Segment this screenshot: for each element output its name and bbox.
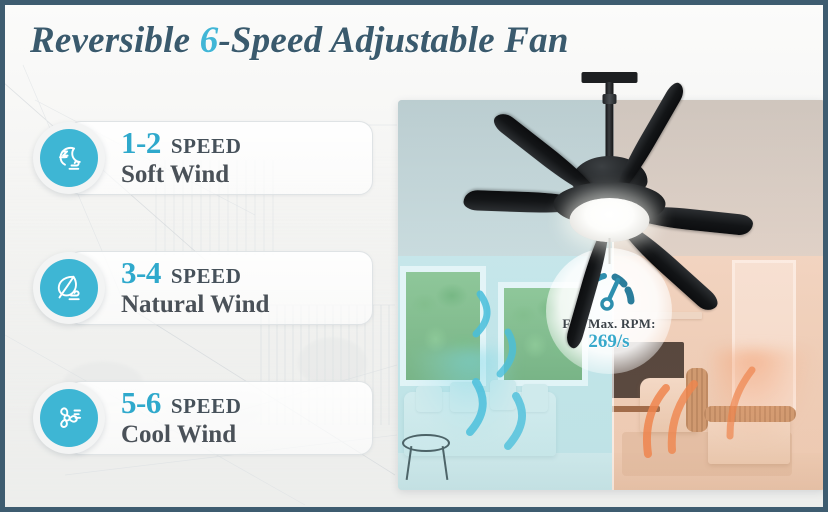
title-part-2: -Speed Adjustable Fan: [218, 20, 568, 61]
speed-word: SPEED: [171, 396, 242, 417]
speedometer-gauge-icon: [578, 271, 640, 313]
rattan-sofa-frame: [704, 406, 796, 422]
fan-blades-wind-icon: [40, 389, 98, 447]
sofa-cushion: [416, 386, 442, 412]
sofa-cushion: [522, 384, 548, 412]
page-title: Reversible 6-Speed Adjustable Fan: [30, 19, 569, 62]
window-greenery: [406, 272, 480, 380]
speed-range: 1-2: [121, 127, 161, 158]
feature-card-list: 1-2 SPEED Soft Wind: [33, 115, 373, 505]
feature-icon-ring: [33, 382, 105, 454]
wind-mode-label: Soft Wind: [121, 162, 242, 188]
rpm-badge: Fan Max. RPM: 269/s: [546, 248, 672, 374]
feature-icon-ring: [33, 252, 105, 324]
rattan-chair-back: [686, 368, 708, 432]
speed-range: 5-6: [121, 387, 161, 418]
wind-mode-label: Natural Wind: [121, 292, 269, 318]
wind-mode-label: Cool Wind: [121, 422, 242, 448]
sofa-cushion: [450, 382, 478, 412]
rpm-label: Fan Max. RPM:: [562, 316, 655, 332]
title-part-1: Reversible: [30, 20, 200, 61]
product-photo-panel: Fan Max. RPM: 269/s: [398, 100, 825, 490]
coffee-table: [612, 406, 660, 412]
speed-range: 3-4: [121, 257, 161, 288]
title-highlight-number: 6: [200, 20, 219, 61]
feature-card-text: 1-2 SPEED Soft Wind: [121, 127, 242, 188]
feature-card-text: 3-4 SPEED Natural Wind: [121, 257, 269, 318]
leaf-wind-icon: [40, 259, 98, 317]
window-frame-right: [732, 260, 796, 410]
feature-card-natural-wind[interactable]: 3-4 SPEED Natural Wind: [33, 245, 373, 331]
room-floor-cool: [398, 453, 612, 490]
poster-frame: Reversible 6-Speed Adjustable Fan: [0, 0, 828, 512]
feature-card-text: 5-6 SPEED Cool Wind: [121, 387, 242, 448]
sofa-cushion: [490, 380, 516, 410]
moon-wind-icon: [40, 129, 98, 187]
feature-icon-ring: [33, 122, 105, 194]
speed-word: SPEED: [171, 266, 242, 287]
rpm-value: 269/s: [588, 332, 629, 352]
feature-card-soft-wind[interactable]: 1-2 SPEED Soft Wind: [33, 115, 373, 201]
feature-card-cool-wind[interactable]: 5-6 SPEED Cool Wind: [33, 375, 373, 461]
speed-word: SPEED: [171, 136, 242, 157]
